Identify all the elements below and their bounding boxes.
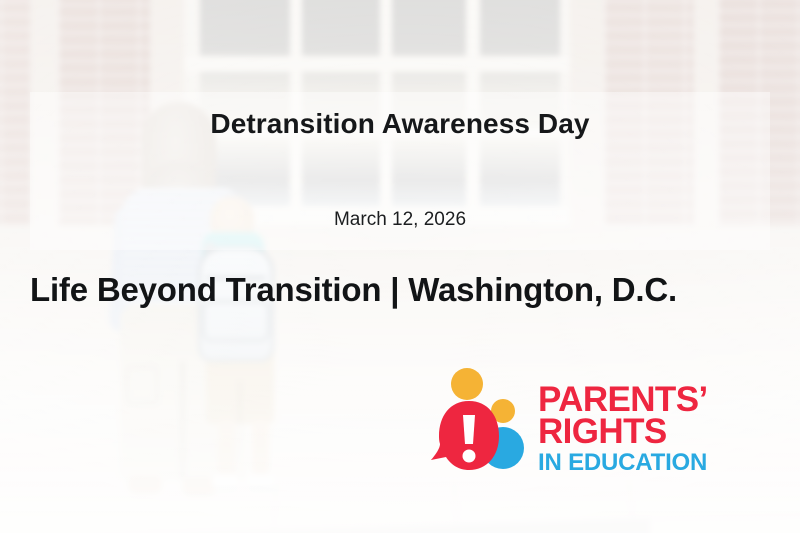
- child-shorts-seam: [238, 382, 242, 424]
- adult-head-icon: [451, 368, 483, 400]
- child-shoe: [248, 474, 274, 490]
- event-date: March 12, 2026: [0, 209, 800, 231]
- event-subtitle: Life Beyond Transition | Washington, D.C…: [30, 271, 790, 309]
- logo-line-in-education: IN EDUCATION: [538, 448, 718, 478]
- child-shoe: [212, 474, 238, 490]
- exclamation-stem-icon: [463, 415, 475, 444]
- logo-wordmark: PARENTS’ RIGHTS IN EDUCATION: [538, 384, 718, 478]
- mother-sandal: [182, 478, 216, 496]
- mother-sandal: [128, 476, 162, 494]
- exclamation-dot-icon: [463, 450, 476, 463]
- logo-line-rights: RIGHTS: [538, 416, 718, 448]
- page-title: Detransition Awareness Day: [0, 108, 800, 140]
- child-leg: [252, 420, 269, 476]
- mother-leg-seam: [180, 362, 185, 480]
- child-leg: [218, 420, 235, 476]
- organization-logo: PARENTS’ RIGHTS IN EDUCATION: [428, 368, 716, 496]
- parents-rights-mark-icon: [428, 368, 532, 476]
- event-poster: Detransition Awareness Day March 12, 202…: [0, 0, 800, 533]
- trouser-pocket: [126, 366, 158, 404]
